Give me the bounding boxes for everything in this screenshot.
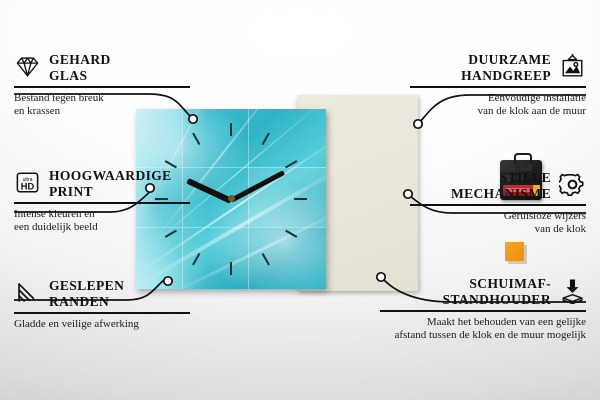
- feature-geslepen-randen: GESLEPEN RANDEN Gladde en veilige afwerk…: [14, 278, 204, 331]
- hour-tick: [262, 133, 270, 145]
- foam-spacer-pad: [505, 242, 524, 261]
- clock-hub: [228, 195, 235, 202]
- hour-tick: [230, 262, 232, 275]
- feature-rule: [410, 204, 586, 206]
- svg-text:HD: HD: [21, 181, 35, 191]
- reflection-pane: [248, 167, 326, 227]
- feature-rule: [14, 86, 190, 88]
- ultra-hd-icon: ultra HD: [14, 169, 41, 196]
- gear-icon: [559, 171, 586, 198]
- mechanism-hanger: [514, 153, 532, 164]
- feature-description: Eenvoudige installatie van de klok aan d…: [396, 92, 586, 118]
- feature-title: STILLE MECHANISME: [451, 170, 551, 201]
- press-down-pad-icon: [559, 277, 586, 304]
- hanging-picture-frame-icon: [559, 53, 586, 80]
- beveled-edges-icon: [14, 279, 41, 306]
- feature-hoogwaardige-print: ultra HD HOOGWAARDIGE PRINT Intense kleu…: [14, 168, 204, 234]
- feature-stille-mechanisme: STILLE MECHANISME Geruisloze wijzers van…: [396, 170, 586, 236]
- feature-schuimaf-standhouder: SCHUIMAF- STANDHOUDER Maakt het behouden…: [366, 276, 586, 342]
- feature-description: Intense kleuren en een duidelijk beeld: [14, 208, 204, 234]
- hour-tick: [294, 198, 307, 200]
- feature-description: Bestand tegen breuk en krassen: [14, 92, 204, 118]
- feature-gehard-glas: GEHARD GLAS Bestand tegen breuk en krass…: [14, 52, 204, 118]
- infographic-canvas: GEHARD GLAS Bestand tegen breuk en krass…: [0, 0, 600, 400]
- feature-rule: [380, 310, 586, 312]
- hour-tick: [230, 123, 232, 136]
- feature-description: Geruisloze wijzers van de klok: [396, 210, 586, 236]
- feature-description: Gladde en veilige afwerking: [14, 318, 204, 331]
- feature-title: GESLEPEN RANDEN: [49, 278, 124, 309]
- diamond-icon: [14, 53, 41, 80]
- hour-tick: [262, 253, 270, 265]
- feature-duurzame-handgreep: DUURZAME HANDGREEP Eenvoudige installati…: [396, 52, 586, 118]
- feature-description: Maakt het behouden van een gelijke afsta…: [366, 316, 586, 342]
- feature-title: DUURZAME HANDGREEP: [461, 52, 551, 83]
- reflection-pane: [136, 109, 182, 167]
- feature-title: GEHARD GLAS: [49, 52, 111, 83]
- feature-title: HOOGWAARDIGE PRINT: [49, 168, 172, 199]
- feature-rule: [14, 202, 190, 204]
- feature-rule: [14, 312, 190, 314]
- feature-title: SCHUIMAF- STANDHOUDER: [443, 276, 551, 307]
- feature-rule: [410, 86, 586, 88]
